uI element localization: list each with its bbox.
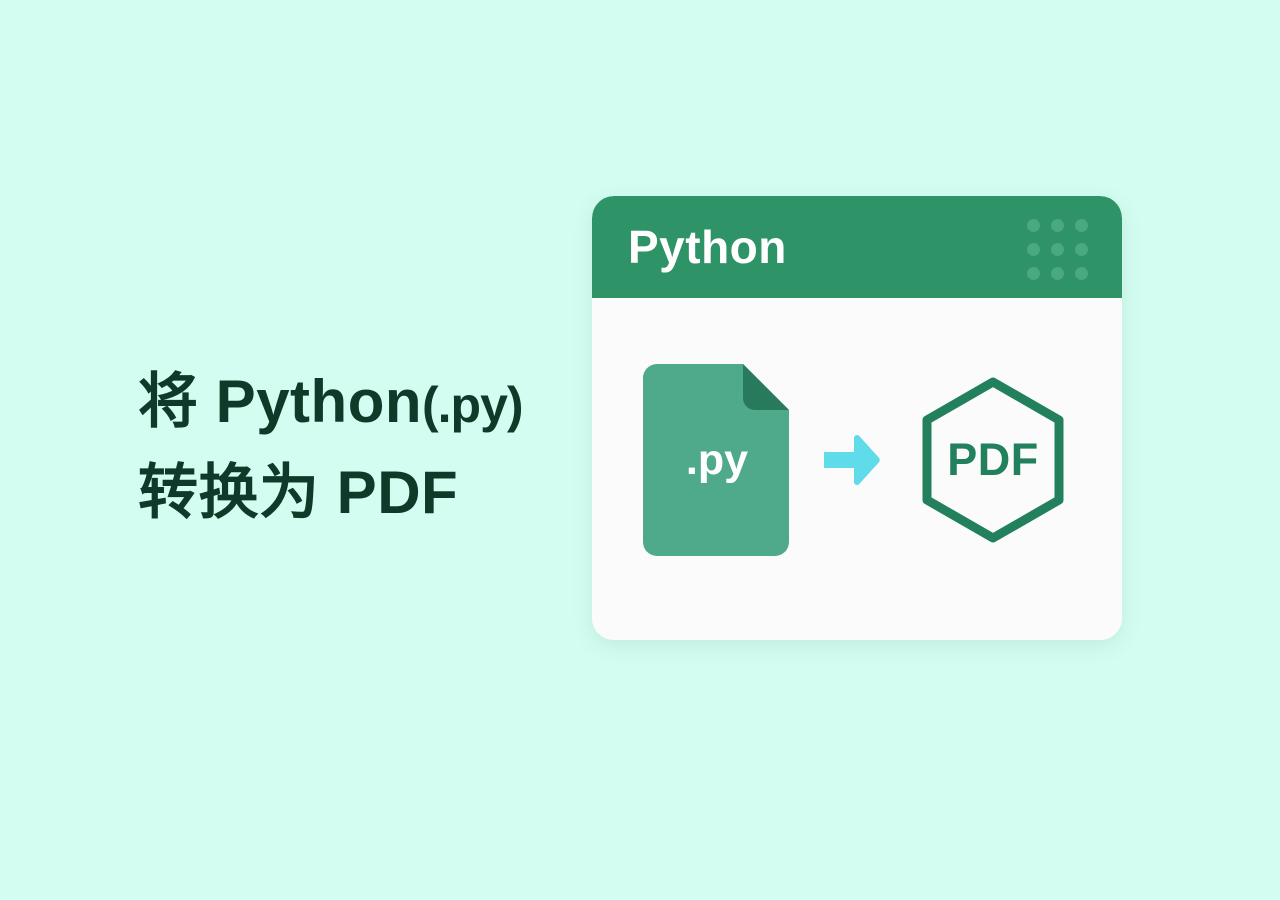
grid-dot: [1075, 267, 1088, 280]
headline-line-1: 将 Python(.py): [138, 358, 588, 449]
grid-dot: [1075, 219, 1088, 232]
arrow-right-icon: [823, 434, 881, 486]
grid-dot: [1051, 243, 1064, 256]
headline-block: 将 Python(.py) 转换为 PDF: [138, 358, 588, 537]
grid-dot: [1051, 219, 1064, 232]
pdf-label: PDF: [915, 376, 1071, 544]
py-file-label: .py: [643, 364, 789, 556]
grid-dot: [1027, 267, 1040, 280]
grid-dot: [1027, 219, 1040, 232]
conversion-illustration: .py PDF: [592, 298, 1122, 640]
grid-dot: [1051, 267, 1064, 280]
pdf-hexagon-icon: PDF: [915, 376, 1071, 544]
grid-dot: [1075, 243, 1088, 256]
grid-dots-icon[interactable]: [1027, 219, 1088, 280]
card-body: .py PDF: [592, 298, 1122, 640]
grid-dot: [1027, 243, 1040, 256]
py-file-icon: .py: [643, 364, 789, 556]
headline-line-1-main: 将 Python: [138, 368, 422, 435]
headline-line-1-extension: (.py): [422, 377, 523, 433]
headline-line-2: 转换为 PDF: [138, 449, 588, 537]
python-to-pdf-card: Python .py: [592, 196, 1122, 640]
card-title: Python: [628, 224, 787, 270]
card-header: Python: [592, 196, 1122, 298]
